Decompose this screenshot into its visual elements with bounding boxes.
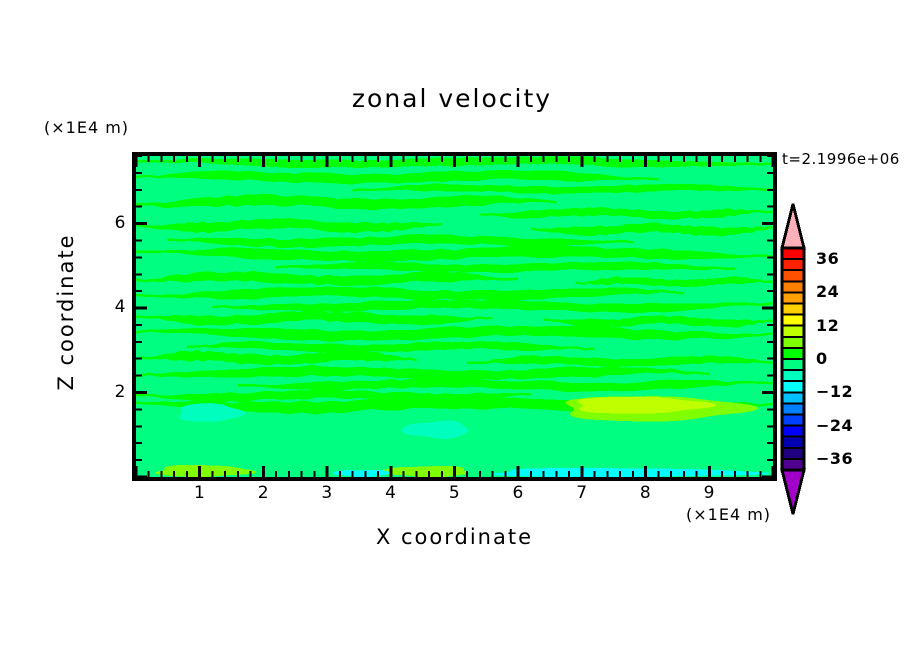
x-tick-label: 3 [307,483,347,503]
colorbar-tick-label: −36 [816,449,853,468]
x-tick-label: 7 [562,483,602,503]
plot-frame [130,150,782,490]
colorbar-tick-label: 36 [816,249,839,268]
colorbar-tick-label: −24 [816,416,853,435]
colorbar-tick-label: 0 [816,349,828,368]
x-tick-label: 5 [435,483,475,503]
chart-title: zonal velocity [0,84,904,113]
x-tick-label: 6 [498,483,538,503]
y-tick-label: 6 [92,213,126,233]
figure-canvas: zonal velocity (×1E4 m) (×1E4 m) X coord… [0,0,904,654]
x-tick-label: 2 [243,483,283,503]
time-annotation: t=2.1996e+06 [782,150,900,168]
colorbar-tick-label: 24 [816,282,839,301]
x-tick-label: 9 [689,483,729,503]
x-tick-label: 4 [371,483,411,503]
colorbar-tick-label: −12 [816,382,853,401]
y-tick-label: 2 [92,382,126,402]
colorbar-tick-label: 12 [816,316,839,335]
x-tick-label: 1 [180,483,220,503]
y-axis-title: Z coordinate [54,212,78,412]
y-tick-label: 4 [92,297,126,317]
x-tick-label: 8 [626,483,666,503]
x-axis-title: X coordinate [136,525,773,549]
x-axis-unit-label: (×1E4 m) [686,505,771,524]
y-axis-unit-label: (×1E4 m) [44,118,129,137]
